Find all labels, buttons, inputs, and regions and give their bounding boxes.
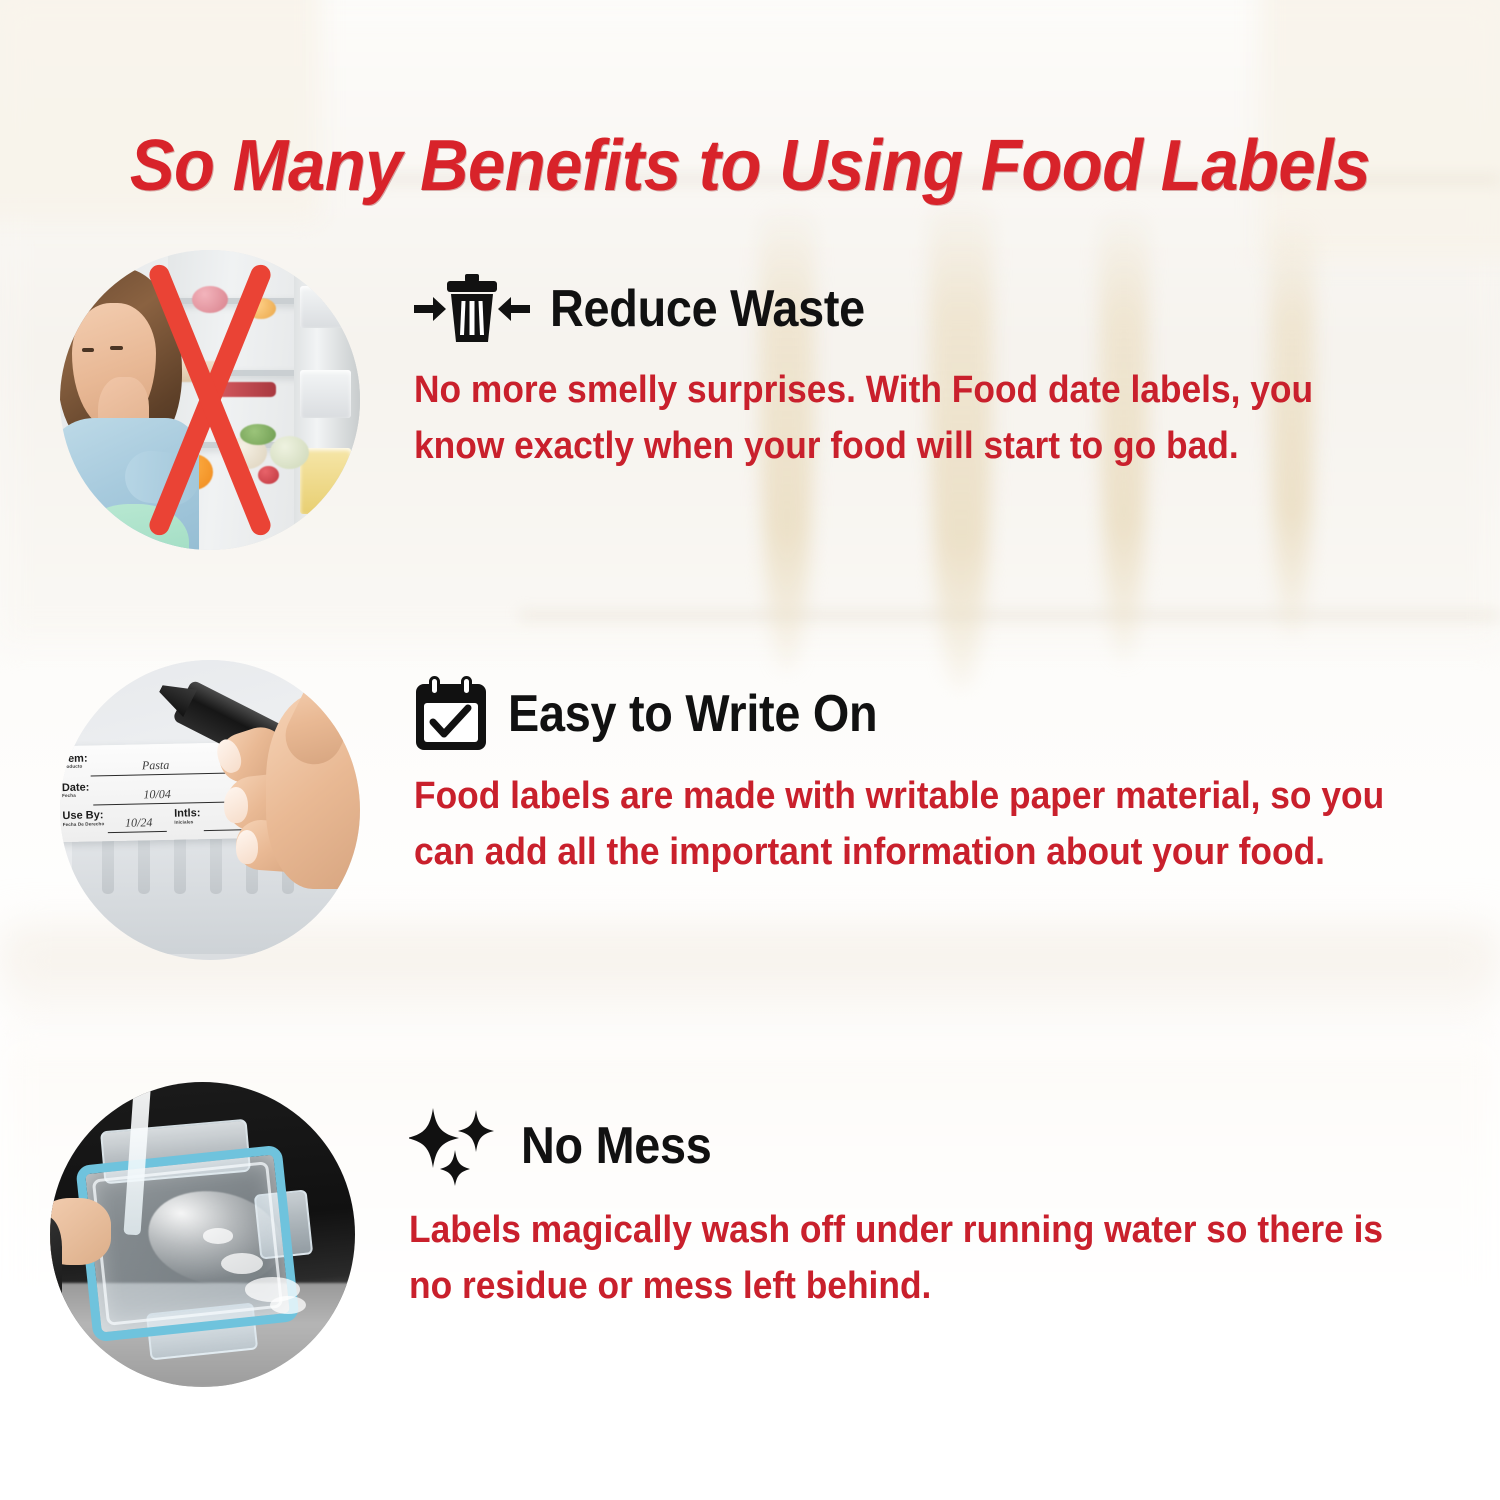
benefit-body: Food labels are made with writable paper… [414,768,1396,880]
water-droplet [203,1228,234,1243]
label-key-item: Item: Producto [61,752,88,770]
label-value-item: Pasta [142,758,170,774]
background-shelf-line-2 [520,612,1500,619]
woman-pinching-nose-at-open-fridge-photo [60,250,360,550]
label-sub-item: Producto [61,765,87,770]
label-key-date: Date: Fecha [62,780,90,798]
fingernail [224,787,248,823]
calendar-check-icon [414,676,488,752]
label-sub-initials: Iniciales [174,820,200,825]
benefit-text-column: Easy to Write On Food labels are made wi… [360,660,1470,880]
label-sub-use-by: Fecha De Derecho [63,822,105,828]
benefit-heading: Reduce Waste [550,279,865,339]
label-sub-date: Fecha [62,793,90,798]
hand-holding-marker [216,684,360,912]
benefit-body: Labels magically wash off under running … [409,1202,1396,1314]
benefit-heading: Easy to Write On [508,684,877,744]
benefit-headline: No Mess [409,1106,1470,1186]
sink-scene [50,1082,355,1387]
benefit-row-no-mess: No Mess Labels magically wash off under … [50,1082,1470,1387]
label-key-initials: Intls: Iniciales [174,807,201,825]
water-droplet [270,1296,307,1314]
sparkles-icon [409,1106,501,1186]
benefit-text-column: No Mess Labels magically wash off under … [355,1082,1470,1314]
label-value-use-by: 10/24 [125,816,153,832]
benefit-body: No more smelly surprises. With Food date… [414,362,1396,474]
container-rinsed-under-running-water-photo [50,1082,355,1387]
dish-rack-scene: Item: Producto Pasta Date: Fecha 10/04 [60,660,360,960]
label-value-date: 10/04 [143,786,171,802]
benefit-row-easy-to-write-on: Item: Producto Pasta Date: Fecha 10/04 [60,660,1470,960]
benefit-headline: Reduce Waste [414,272,1470,346]
fingernail [236,830,258,864]
red-x-overlay [60,250,360,550]
benefit-row-reduce-waste: Reduce Waste No more smelly surprises. W… [60,250,1470,550]
label-writeline-use-by: 10/24 [107,817,166,833]
benefit-headline: Easy to Write On [414,676,1470,752]
label-key-use-by: Use By: Fecha De Derecho [62,809,104,828]
trash-reduce-icon [414,272,530,346]
page-title: So Many Benefits to Using Food Labels [53,130,1448,202]
benefit-text-column: Reduce Waste No more smelly surprises. W… [360,250,1470,474]
hand-writing-on-food-label-with-marker-photo: Item: Producto Pasta Date: Fecha 10/04 [60,660,360,960]
benefit-heading: No Mess [521,1116,712,1176]
